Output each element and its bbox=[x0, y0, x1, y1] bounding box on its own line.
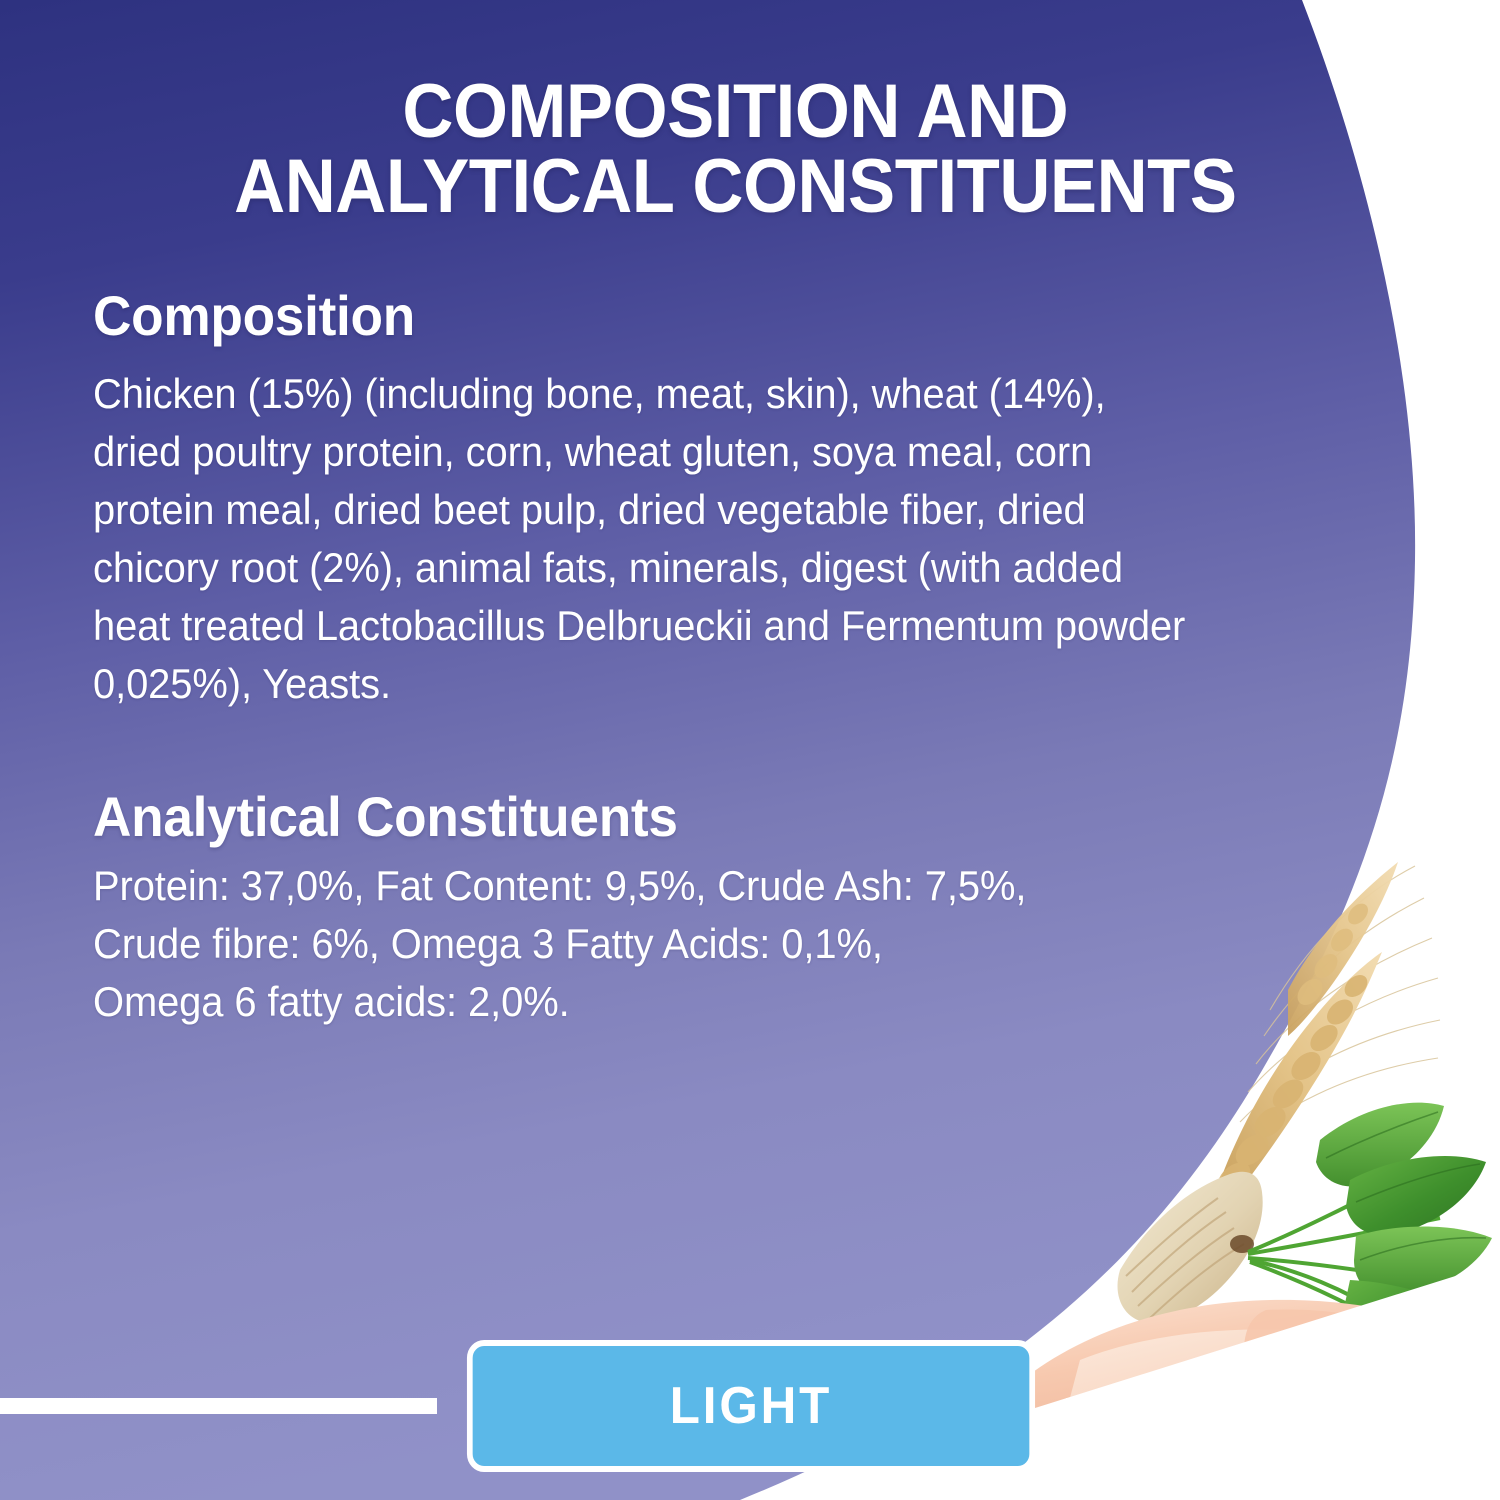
composition-section: Composition Chicken (15%) (including bon… bbox=[0, 286, 1400, 712]
content-column: COMPOSITION AND ANALYTICAL CONSTITUENTS … bbox=[0, 0, 1400, 1031]
variant-badge-row: LIGHT bbox=[0, 1331, 1500, 1481]
analytical-constituents-section: Analytical Constituents Protein: 37,0%, … bbox=[0, 787, 1400, 1031]
divider-line-right bbox=[1066, 1398, 1376, 1414]
composition-body: Chicken (15%) (including bone, meat, ski… bbox=[93, 365, 1192, 713]
analytical-constituents-body: Protein: 37,0%, Fat Content: 9,5%, Crude… bbox=[93, 857, 1192, 1031]
analytical-line: Omega 6 fatty acids: 2,0%. bbox=[93, 973, 1192, 1031]
analytical-constituents-heading: Analytical Constituents bbox=[93, 787, 1192, 847]
analytical-line: Crude fibre: 6%, Omega 3 Fatty Acids: 0,… bbox=[93, 915, 1192, 973]
light-variant-badge[interactable]: LIGHT bbox=[467, 1340, 1035, 1472]
analytical-line: Protein: 37,0%, Fat Content: 9,5%, Crude… bbox=[93, 857, 1192, 915]
product-info-panel: COMPOSITION AND ANALYTICAL CONSTITUENTS … bbox=[0, 0, 1500, 1500]
composition-heading: Composition bbox=[93, 286, 1192, 346]
page-title: COMPOSITION AND ANALYTICAL CONSTITUENTS bbox=[49, 0, 1351, 224]
divider-line-left bbox=[0, 1398, 437, 1414]
